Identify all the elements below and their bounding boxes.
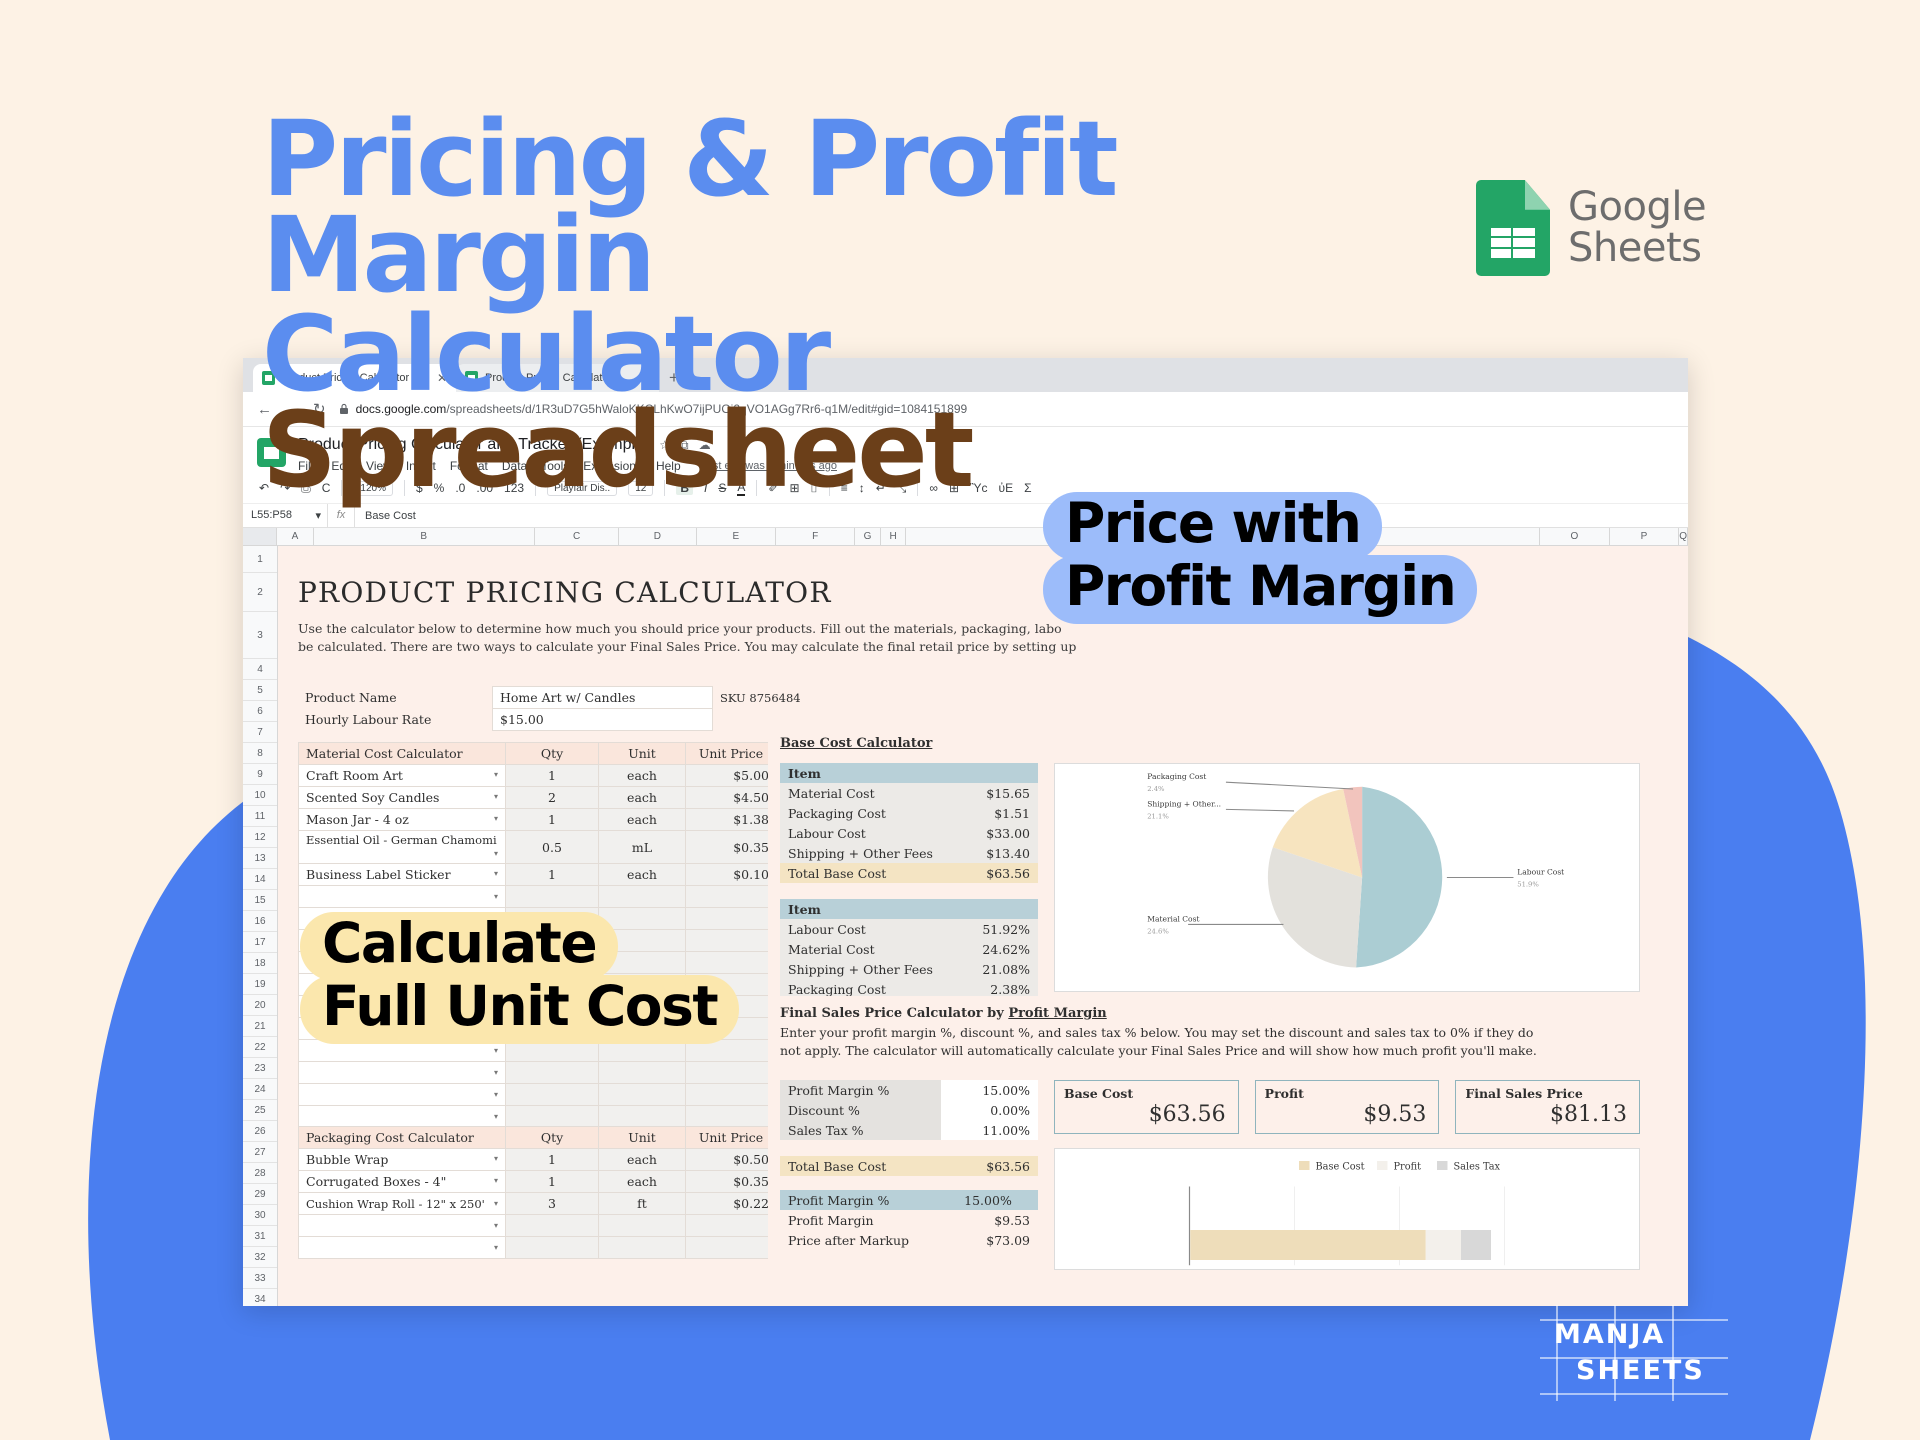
base-cost-value: $33.00 — [968, 823, 1038, 843]
material-qty[interactable]: 0.5 — [506, 831, 599, 864]
base-cost-total-value: $63.56 — [968, 863, 1038, 883]
material-item[interactable]: Scented Soy Candles▾ — [299, 787, 506, 809]
stat-card-base-cost: Base Cost $63.56 — [1054, 1080, 1239, 1134]
callout-calc-line-1: Calculate — [300, 912, 618, 981]
row-header-6[interactable]: 6 — [243, 701, 277, 722]
table-header-row: Item — [780, 763, 1038, 783]
svg-text:21.1%: 21.1% — [1147, 812, 1169, 820]
stat-card-final-price: Final Sales Price $81.13 — [1455, 1080, 1640, 1134]
pct-value: 24.62% — [959, 939, 1038, 959]
row-header-18[interactable]: 18 — [243, 953, 277, 974]
row-header-12[interactable]: 12 — [243, 827, 277, 848]
headline-line-2-brown: Spreadsheet — [262, 389, 972, 511]
packaging-table-title: Packaging Cost Calculator — [299, 1127, 506, 1149]
callout-price-line-2: Profit Margin — [1043, 555, 1477, 624]
row-header-33[interactable]: 33 — [243, 1268, 277, 1289]
material-qty[interactable]: 1 — [506, 765, 599, 787]
intro-line-2: be calculated. There are two ways to cal… — [298, 638, 1388, 656]
packaging-item[interactable]: Bubble Wrap▾ — [299, 1149, 506, 1171]
svg-text:Material Cost: Material Cost — [1147, 914, 1199, 923]
packaging-item[interactable]: Cushion Wrap Roll - 12" x 250'▾ — [299, 1193, 506, 1215]
row-header-30[interactable]: 30 — [243, 1205, 277, 1226]
callout-price-with-profit-margin: Price with Profit Margin — [1043, 492, 1613, 624]
sheet-intro-text: Use the calculator below to determine ho… — [298, 620, 1388, 656]
col-qty: Qty — [506, 743, 599, 765]
material-item[interactable]: Craft Room Art▾ — [299, 765, 506, 787]
col-unit-price: Unit Price — [686, 743, 777, 765]
row-header-17[interactable]: 17 — [243, 932, 277, 953]
material-item[interactable]: Business Label Sticker▾ — [299, 864, 506, 886]
packaging-unit-price: $0.50 — [686, 1149, 777, 1171]
stat-card-final-price-value: $81.13 — [1456, 1101, 1639, 1133]
row-header-28[interactable]: 28 — [243, 1163, 277, 1184]
material-qty[interactable]: 1 — [506, 809, 599, 831]
material-qty[interactable]: 1 — [506, 864, 599, 886]
column-header-h[interactable]: H — [881, 528, 906, 545]
table-row: Discount %0.00% — [780, 1100, 1038, 1120]
svg-text:Sales Tax: Sales Tax — [1454, 1162, 1501, 1173]
table-row: Profit Margin %15.00% — [780, 1080, 1038, 1100]
column-header-a[interactable]: A — [277, 528, 313, 545]
packaging-item[interactable]: Corrugated Boxes - 4"▾ — [299, 1171, 506, 1193]
row-header-23[interactable]: 23 — [243, 1058, 277, 1079]
breakdown-value: 15.00% — [956, 1190, 1038, 1210]
stat-card-final-price-label: Final Sales Price — [1456, 1081, 1639, 1101]
col-unit: Unit — [599, 743, 686, 765]
table-row: Material Cost$15.65 — [780, 783, 1038, 803]
column-header-q[interactable]: Q — [1679, 528, 1688, 545]
base-cost-panel-title: Base Cost Calculator — [780, 736, 1640, 751]
markup-breakdown-table: Profit Margin %15.00% Profit Margin$9.53… — [780, 1190, 1038, 1250]
page-title: Pricing & Profit Margin Calculator Sprea… — [262, 112, 1462, 499]
col-unit-price: Unit Price — [686, 1127, 777, 1149]
material-unit: each — [599, 864, 686, 886]
row-headers: 1234567891011121314151617181920212223242… — [243, 546, 278, 1306]
row-header-9[interactable]: 9 — [243, 764, 277, 785]
row-header-8[interactable]: 8 — [243, 743, 277, 764]
watermark-line-1: MANJA — [1554, 1317, 1705, 1353]
bar-chart-svg: Base Cost Profit Sales Tax — [1055, 1149, 1639, 1269]
row-header-14[interactable]: 14 — [243, 869, 277, 890]
pie-chart-svg: Packaging Cost 2.4% Shipping + Other... … — [1055, 764, 1639, 991]
brand-word-sheets: Sheets — [1568, 228, 1706, 269]
discount-input[interactable]: 0.00% — [941, 1100, 1038, 1120]
base-cost-value: $15.65 — [968, 783, 1038, 803]
table-row: Price after Markup$73.09 — [780, 1230, 1038, 1250]
table-row: Total Base Cost$63.56 — [780, 1156, 1038, 1176]
row-header-20[interactable]: 20 — [243, 995, 277, 1016]
packaging-unit-price: $0.22 — [686, 1193, 777, 1215]
material-unit: each — [599, 765, 686, 787]
row-header-29[interactable]: 29 — [243, 1184, 277, 1205]
row-header-26[interactable]: 26 — [243, 1121, 277, 1142]
hourly-rate-value[interactable]: $15.00 — [493, 709, 713, 731]
row-header-21[interactable]: 21 — [243, 1016, 277, 1037]
total-base-cost-value: $63.56 — [949, 1156, 1038, 1176]
product-sku: SKU 8756484 — [713, 687, 833, 709]
column-header-c[interactable]: C — [535, 528, 619, 545]
sales-tax-label: Sales Tax % — [780, 1120, 941, 1140]
price-breakdown-bar-chart: Base Cost Profit Sales Tax — [1054, 1148, 1640, 1270]
breakdown-label: Profit Margin % — [780, 1190, 956, 1210]
table-row: Shipping + Other Fees$13.40 — [780, 843, 1038, 863]
row-header-4[interactable]: 4 — [243, 659, 277, 680]
callout-price-line-1: Price with — [1043, 492, 1382, 561]
packaging-qty[interactable]: 1 — [506, 1171, 599, 1193]
packaging-unit-price: $0.35 — [686, 1171, 777, 1193]
base-cost-pie-chart: Packaging Cost 2.4% Shipping + Other... … — [1054, 763, 1640, 992]
packaging-qty[interactable]: 3 — [506, 1193, 599, 1215]
svg-text:Shipping + Other...: Shipping + Other... — [1147, 799, 1221, 808]
table-row: Profit Margin %15.00% — [780, 1190, 1038, 1210]
material-qty[interactable]: 2 — [506, 787, 599, 809]
table-row: Packaging Cost$1.51 — [780, 803, 1038, 823]
base-cost-value: $1.51 — [968, 803, 1038, 823]
hourly-rate-label: Hourly Labour Rate — [298, 709, 493, 731]
profit-margin-label: Profit Margin % — [780, 1080, 941, 1100]
svg-text:Packaging Cost: Packaging Cost — [1147, 772, 1206, 781]
row-header-10[interactable]: 10 — [243, 785, 277, 806]
row-header-13[interactable]: 13 — [243, 848, 277, 869]
price-inputs-table: Profit Margin %15.00% Discount %0.00% Sa… — [780, 1080, 1038, 1140]
brand-word-google: Google — [1568, 187, 1706, 228]
row-header-15[interactable]: 15 — [243, 890, 277, 911]
svg-text:24.6%: 24.6% — [1147, 927, 1169, 935]
base-cost-label: Packaging Cost — [780, 803, 968, 823]
row-header-22[interactable]: 22 — [243, 1037, 277, 1058]
google-sheets-lockup: Google Sheets — [1476, 180, 1706, 276]
watermark-line-2: SHEETS — [1576, 1353, 1705, 1389]
callout-calculate-full-unit-cost: Calculate Full Unit Cost — [300, 912, 875, 1044]
base-cost-total-label: Total Base Cost — [780, 863, 968, 883]
row-header-7[interactable]: 7 — [243, 722, 277, 743]
material-unit-price: $4.50 — [686, 787, 777, 809]
callout-calc-line-2: Full Unit Cost — [300, 975, 739, 1044]
material-table-title: Material Cost Calculator — [299, 743, 506, 765]
product-info-table: Product Name Home Art w/ Candles SKU 875… — [298, 686, 832, 731]
material-unit-price: $0.35 — [686, 831, 777, 864]
final-price-title-link[interactable]: Profit Margin — [1008, 1006, 1106, 1021]
row-header-27[interactable]: 27 — [243, 1142, 277, 1163]
table-row: Sales Tax %11.00% — [780, 1120, 1038, 1140]
svg-text:Profit: Profit — [1394, 1162, 1422, 1173]
column-header-d[interactable]: D — [619, 528, 696, 545]
packaging-unit: each — [599, 1149, 686, 1171]
row-header-3[interactable]: 3 — [243, 612, 277, 659]
headline-line-1: Pricing & Profit Margin — [262, 98, 1116, 316]
row-header-5[interactable]: 5 — [243, 680, 277, 701]
packaging-unit: each — [599, 1171, 686, 1193]
base-cost-label: Shipping + Other Fees — [780, 843, 968, 863]
material-unit: each — [599, 787, 686, 809]
material-unit-price: $5.00 — [686, 765, 777, 787]
base-cost-item-header: Item — [780, 763, 1038, 783]
stat-card-profit: Profit $9.53 — [1255, 1080, 1440, 1134]
formula-input[interactable]: Base Cost — [355, 510, 416, 522]
total-base-cost-row-table: Total Base Cost$63.56 — [780, 1156, 1038, 1176]
final-price-description: Enter your profit margin %, discount %, … — [780, 1024, 1640, 1060]
stat-card-base-cost-value: $63.56 — [1055, 1101, 1238, 1133]
brand-watermark: MANJA SHEETS — [1540, 1305, 1728, 1401]
table-row: Product Name Home Art w/ Candles SKU 875… — [298, 687, 832, 709]
breakdown-value: $9.53 — [956, 1210, 1038, 1230]
packaging-unit: ft — [599, 1193, 686, 1215]
stat-card-profit-label: Profit — [1256, 1081, 1439, 1101]
table-row: Profit Margin$9.53 — [780, 1210, 1038, 1230]
discount-label: Discount % — [780, 1100, 941, 1120]
breakdown-label: Profit Margin — [780, 1210, 956, 1230]
pct-value: 51.92% — [959, 919, 1038, 939]
material-unit-price: $0.10 — [686, 864, 777, 886]
material-unit: mL — [599, 831, 686, 864]
google-sheets-icon — [1476, 180, 1550, 276]
base-cost-label: Labour Cost — [780, 823, 968, 843]
sheet-heading: PRODUCT PRICING CALCULATOR — [298, 576, 832, 609]
profit-margin-input[interactable]: 15.00% — [941, 1080, 1038, 1100]
pct-value: 21.08% — [959, 959, 1038, 979]
row-header-1[interactable]: 1 — [243, 546, 277, 573]
row-header-19[interactable]: 19 — [243, 974, 277, 995]
table-row: Hourly Labour Rate $15.00 — [298, 709, 832, 731]
column-header-g[interactable]: G — [855, 528, 880, 545]
table-row: Labour Cost$33.00 — [780, 823, 1038, 843]
final-sales-price-panel: Final Sales Price Calculator by Profit M… — [768, 996, 1652, 1286]
svg-text:2.4%: 2.4% — [1147, 785, 1165, 793]
base-cost-label: Material Cost — [780, 783, 968, 803]
column-header-p[interactable]: P — [1610, 528, 1680, 545]
base-cost-amounts-table: Item Material Cost$15.65 Packaging Cost$… — [780, 763, 1038, 883]
breakdown-label: Price after Markup — [780, 1230, 956, 1250]
row-header-25[interactable]: 25 — [243, 1100, 277, 1121]
total-base-cost-label: Total Base Cost — [780, 1156, 949, 1176]
col-unit: Unit — [599, 1127, 686, 1149]
base-cost-value: $13.40 — [968, 843, 1038, 863]
col-qty: Qty — [506, 1127, 599, 1149]
breakdown-value: $73.09 — [956, 1230, 1038, 1250]
row-header-2[interactable]: 2 — [243, 573, 277, 612]
column-header-f[interactable]: F — [776, 528, 855, 545]
row-header-34[interactable]: 34 — [243, 1289, 277, 1306]
select-all-corner[interactable] — [243, 528, 277, 545]
final-price-desc-line-2: not apply. The calculator will automatic… — [780, 1042, 1640, 1060]
material-unit-price: $1.38 — [686, 809, 777, 831]
product-name-label: Product Name — [298, 687, 493, 709]
material-item[interactable]: Mason Jar - 4 oz▾ — [299, 809, 506, 831]
row-header-24[interactable]: 24 — [243, 1079, 277, 1100]
product-name-value[interactable]: Home Art w/ Candles — [493, 687, 713, 709]
svg-text:Base Cost: Base Cost — [1316, 1162, 1365, 1173]
base-cost-calculator-panel: Base Cost Calculator Item Material Cost$… — [768, 726, 1652, 1035]
row-header-32[interactable]: 32 — [243, 1247, 277, 1268]
svg-text:Labour Cost: Labour Cost — [1517, 867, 1564, 876]
final-price-panel-title: Final Sales Price Calculator by Profit M… — [780, 1006, 1640, 1021]
row-header-31[interactable]: 31 — [243, 1226, 277, 1247]
svg-text:51.9%: 51.9% — [1517, 881, 1539, 889]
column-header-e[interactable]: E — [697, 528, 776, 545]
final-price-desc-line-1: Enter your profit margin %, discount %, … — [780, 1024, 1640, 1042]
material-unit: each — [599, 809, 686, 831]
material-item[interactable]: Essential Oil - German Chamomi▾ — [299, 831, 506, 864]
column-header-b[interactable]: B — [314, 528, 535, 545]
packaging-qty[interactable]: 1 — [506, 1149, 599, 1171]
row-header-11[interactable]: 11 — [243, 806, 277, 827]
row-header-16[interactable]: 16 — [243, 911, 277, 932]
table-total-row: Total Base Cost$63.56 — [780, 863, 1038, 883]
stat-card-base-cost-label: Base Cost — [1055, 1081, 1238, 1101]
sales-tax-input[interactable]: 11.00% — [941, 1120, 1038, 1140]
stat-card-profit-value: $9.53 — [1256, 1101, 1439, 1133]
